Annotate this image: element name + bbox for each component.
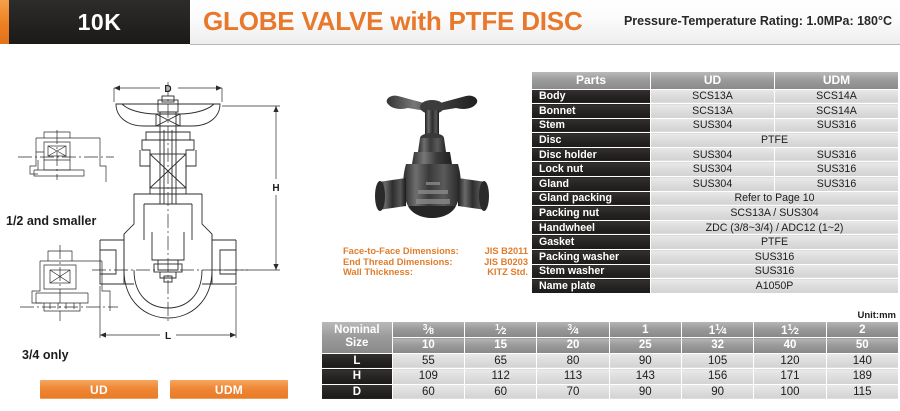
part-material-cell-udm: SCS14A xyxy=(774,104,898,119)
parts-table-header-row: PartsUDUDM xyxy=(532,72,898,89)
nominal-size-header: NominalSize xyxy=(322,322,392,353)
pressure-class-badge: 10K xyxy=(9,0,190,44)
parts-material-table: PartsUDUDMBodySCS13ASCS14ABonnetSCS13ASC… xyxy=(532,72,898,293)
dimensions-table: NominalSize3⁄81⁄23⁄4111⁄411⁄221015202532… xyxy=(322,322,898,399)
parts-table-row: Stem washerSUS316 xyxy=(532,264,898,279)
parts-table-row: Packing washerSUS316 xyxy=(532,250,898,265)
part-material-cell-udm: SUS316 xyxy=(774,162,898,177)
parts-table-header-ud: UD xyxy=(650,72,774,89)
parts-table-row: Disc holderSUS304SUS316 xyxy=(532,147,898,162)
parts-table-row: Lock nutSUS304SUS316 xyxy=(532,162,898,177)
part-material-cell-udm: SUS316 xyxy=(774,147,898,162)
dimensions-row-l: L55658090105120140 xyxy=(322,353,898,369)
dim-label-l: L xyxy=(165,331,171,342)
part-name-cell: Handwheel xyxy=(532,220,650,235)
parts-table-row: HandwheelZDC (3/8~3/4) / ADC12 (1~2) xyxy=(532,220,898,235)
dimension-value-cell: 65 xyxy=(465,353,537,369)
note-row: End Thread Dimensions: JIS B0203 xyxy=(343,257,528,268)
part-name-cell: Stem xyxy=(532,118,650,133)
size-inch-1: 1⁄2 xyxy=(465,322,537,338)
part-material-cell-shared: SUS316 xyxy=(650,264,898,279)
dimension-value-cell: 55 xyxy=(392,353,464,369)
size-mm-0: 10 xyxy=(392,338,464,354)
part-name-cell: Name plate xyxy=(532,279,650,294)
note-row: Wall Thickness: KITZ Std. xyxy=(343,267,528,278)
parts-table-row: GlandSUS304SUS316 xyxy=(532,177,898,192)
note-value: JIS B0203 xyxy=(478,257,528,268)
size-mm-1: 15 xyxy=(465,338,537,354)
part-material-cell-shared: SCS13A / SUS304 xyxy=(650,206,898,221)
part-name-cell: Lock nut xyxy=(532,162,650,177)
header-divider xyxy=(190,44,900,45)
parts-table-header-udm: UDM xyxy=(774,72,898,89)
caption-three-quarter-only: 3/4 only xyxy=(22,348,69,362)
part-name-cell: Gasket xyxy=(532,235,650,250)
part-name-cell: Bonnet xyxy=(532,104,650,119)
part-name-cell: Packing nut xyxy=(532,206,650,221)
dimensions-header-row-mm: 10152025324050 xyxy=(322,338,898,354)
note-row: Face-to-Face Dimensions: JIS B2011 xyxy=(343,246,528,257)
size-inch-0: 3⁄8 xyxy=(392,322,464,338)
dimension-value-cell: 70 xyxy=(537,384,609,399)
dimension-value-cell: 105 xyxy=(681,353,753,369)
variant-button-ud[interactable]: UD xyxy=(40,380,158,399)
dimension-value-cell: 113 xyxy=(537,369,609,385)
part-material-cell-shared: PTFE xyxy=(650,133,898,148)
unit-label: Unit:mm xyxy=(857,310,896,321)
part-name-cell: Gland xyxy=(532,177,650,192)
parts-table-header-parts: Parts xyxy=(532,72,650,89)
dimension-value-cell: 171 xyxy=(754,369,826,385)
dimensions-row-h: H109112113143156171189 xyxy=(322,369,898,385)
part-material-cell-udm: SUS316 xyxy=(774,177,898,192)
dimension-value-cell: 112 xyxy=(465,369,537,385)
part-material-cell-ud: SCS13A xyxy=(650,89,774,104)
size-mm-6: 50 xyxy=(826,338,898,354)
dimension-value-cell: 80 xyxy=(537,353,609,369)
size-inch-4: 11⁄4 xyxy=(681,322,753,338)
size-mm-5: 40 xyxy=(754,338,826,354)
variant-button-udm[interactable]: UDM xyxy=(170,380,288,399)
part-material-cell-shared: A1050P xyxy=(650,279,898,294)
page-header: 10K GLOBE VALVE with PTFE DISC Pressure-… xyxy=(0,0,900,44)
caption-half-and-smaller: 1/2 and smaller xyxy=(6,214,96,228)
parts-table-row: BodySCS13ASCS14A xyxy=(532,89,898,104)
part-material-cell-shared: ZDC (3/8~3/4) / ADC12 (1~2) xyxy=(650,220,898,235)
size-inch-6: 2 xyxy=(826,322,898,338)
dimension-value-cell: 60 xyxy=(392,384,464,399)
part-material-cell-udm: SCS14A xyxy=(774,89,898,104)
part-material-cell-shared: Refer to Page 10 xyxy=(650,191,898,206)
part-name-cell: Body xyxy=(532,89,650,104)
parts-table-row: Gland packingRefer to Page 10 xyxy=(532,191,898,206)
dimension-label-cell: H xyxy=(322,369,392,385)
size-mm-3: 25 xyxy=(609,338,681,354)
parts-table-row: StemSUS304SUS316 xyxy=(532,118,898,133)
dimension-value-cell: 115 xyxy=(826,384,898,399)
dimensions-table-wrapper: Unit:mm NominalSize3⁄81⁄23⁄4111⁄411⁄2210… xyxy=(322,322,898,399)
parts-table-row: BonnetSCS13ASCS14A xyxy=(532,104,898,119)
dimension-label-cell: L xyxy=(322,353,392,369)
dim-label-h: H xyxy=(272,183,279,194)
part-material-cell-ud: SUS304 xyxy=(650,162,774,177)
part-material-cell-ud: SUS304 xyxy=(650,177,774,192)
dimension-value-cell: 60 xyxy=(465,384,537,399)
dimension-value-cell: 189 xyxy=(826,369,898,385)
dimension-value-cell: 90 xyxy=(609,384,681,399)
note-key: Wall Thickness: xyxy=(343,267,413,278)
part-name-cell: Gland packing xyxy=(532,191,650,206)
dimension-value-cell: 90 xyxy=(681,384,753,399)
dimension-value-cell: 109 xyxy=(392,369,464,385)
note-value: KITZ Std. xyxy=(481,267,528,278)
dimension-value-cell: 90 xyxy=(609,353,681,369)
note-key: End Thread Dimensions: xyxy=(343,257,453,268)
parts-table-row: Name plateA1050P xyxy=(532,279,898,294)
dimensions-row-d: D6060709090100115 xyxy=(322,384,898,399)
dimension-value-cell: 143 xyxy=(609,369,681,385)
size-mm-4: 32 xyxy=(681,338,753,354)
part-material-cell-shared: SUS316 xyxy=(650,250,898,265)
pressure-temperature-rating: Pressure-Temperature Rating: 1.0MPa: 180… xyxy=(624,14,892,28)
dimension-value-cell: 156 xyxy=(681,369,753,385)
part-material-cell-ud: SUS304 xyxy=(650,147,774,162)
datasheet-page: 10K GLOBE VALVE with PTFE DISC Pressure-… xyxy=(0,0,900,411)
note-value: JIS B2011 xyxy=(479,246,528,257)
part-name-cell: Disc xyxy=(532,133,650,148)
parts-table-row: DiscPTFE xyxy=(532,133,898,148)
note-key: Face-to-Face Dimensions: xyxy=(343,246,459,257)
dimension-value-cell: 140 xyxy=(826,353,898,369)
part-material-cell-shared: PTFE xyxy=(650,235,898,250)
part-name-cell: Packing washer xyxy=(532,250,650,265)
product-photo-globe-valve xyxy=(372,82,492,234)
standards-notes: Face-to-Face Dimensions: JIS B2011 End T… xyxy=(343,246,528,278)
parts-table-row: GasketPTFE xyxy=(532,235,898,250)
page-title: GLOBE VALVE with PTFE DISC xyxy=(203,6,583,37)
part-material-cell-ud: SUS304 xyxy=(650,118,774,133)
size-inch-3: 1 xyxy=(609,322,681,338)
part-material-cell-udm: SUS316 xyxy=(774,118,898,133)
size-mm-2: 20 xyxy=(537,338,609,354)
part-name-cell: Disc holder xyxy=(532,147,650,162)
dimension-value-cell: 120 xyxy=(754,353,826,369)
parts-table-row: Packing nutSCS13A / SUS304 xyxy=(532,206,898,221)
dimensions-header-row-inch: NominalSize3⁄81⁄23⁄4111⁄411⁄22 xyxy=(322,322,898,338)
part-name-cell: Stem washer xyxy=(532,264,650,279)
dimension-value-cell: 100 xyxy=(754,384,826,399)
size-inch-2: 3⁄4 xyxy=(537,322,609,338)
drawing-valve-cross-section: D xyxy=(100,74,340,340)
part-material-cell-ud: SCS13A xyxy=(650,104,774,119)
dimension-label-cell: D xyxy=(322,384,392,399)
size-inch-5: 11⁄2 xyxy=(754,322,826,338)
header-orange-accent-bar xyxy=(0,0,9,44)
